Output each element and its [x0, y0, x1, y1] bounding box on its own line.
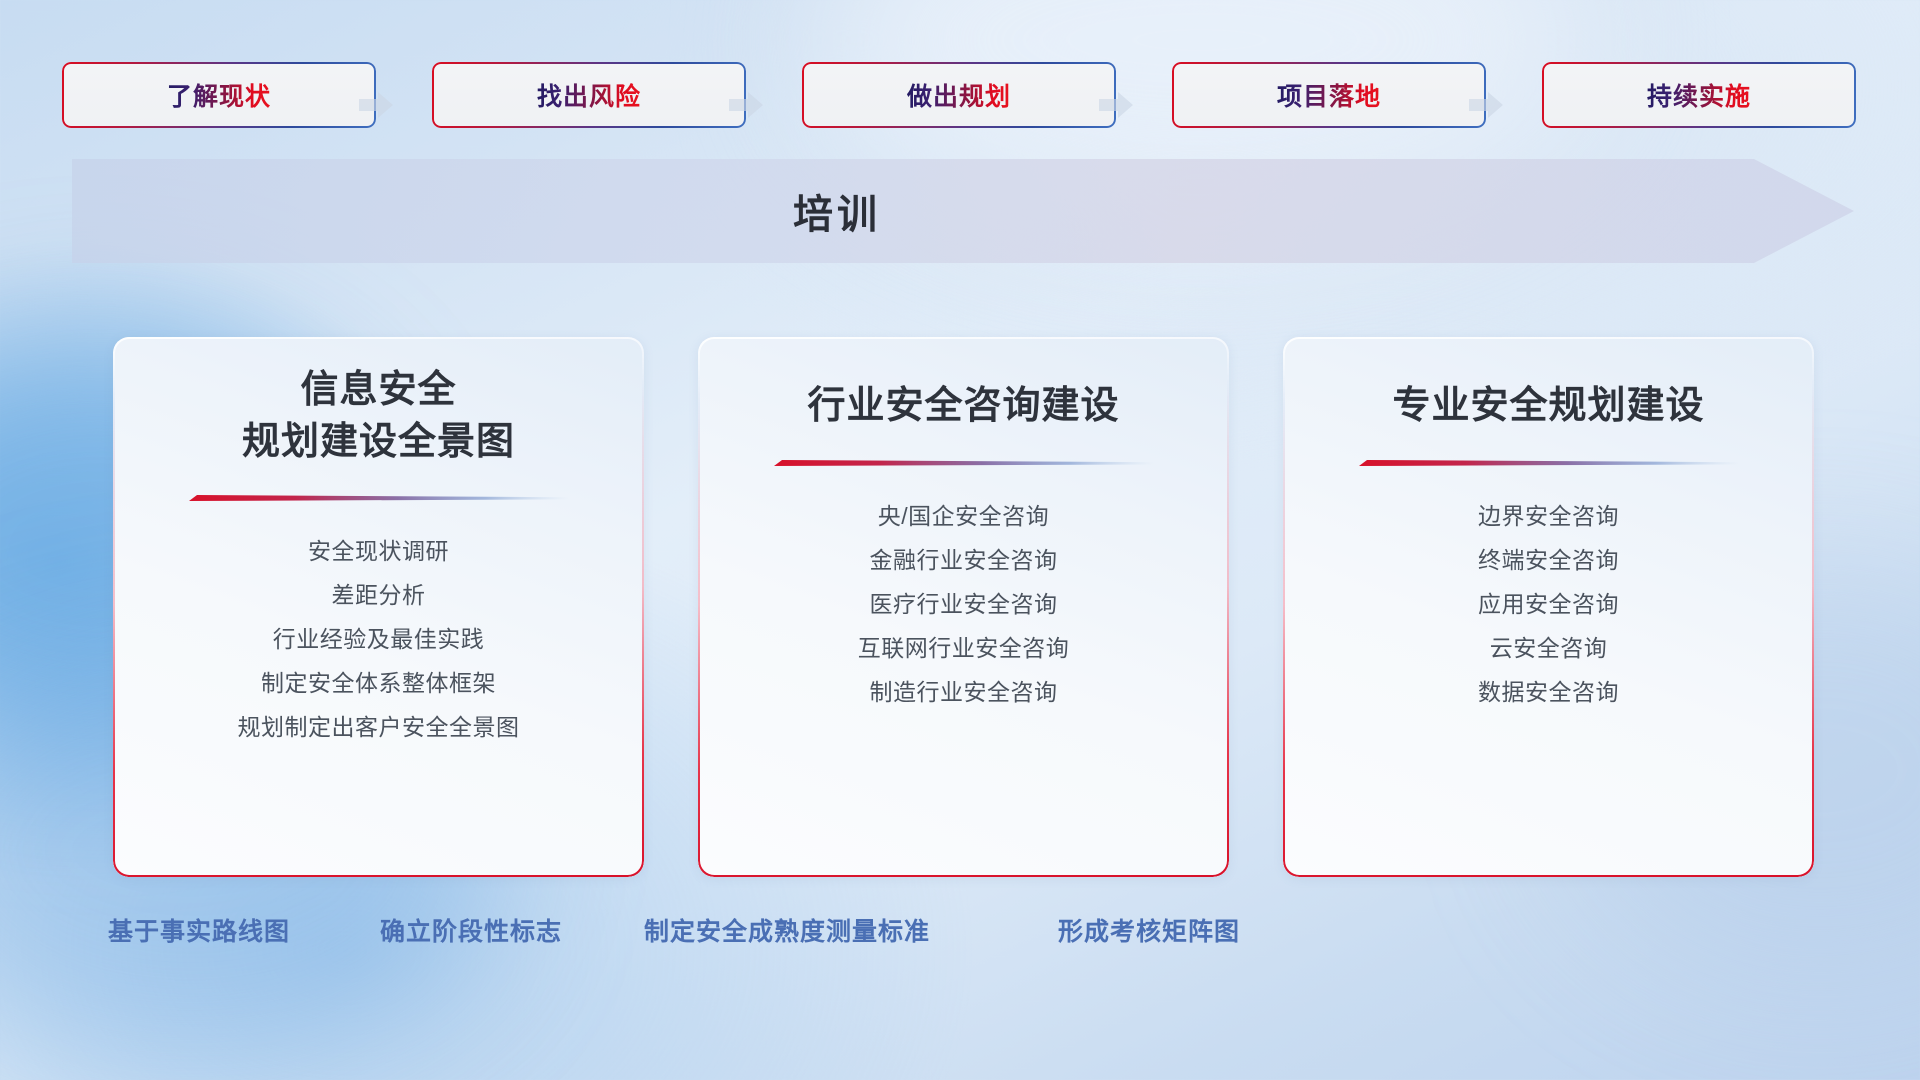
process-step-4[interactable]: 项目落地	[1172, 62, 1486, 128]
card-item-list: 安全现状调研 差距分析 行业经验及最佳实践 制定安全体系整体框架 规划制定出客户…	[238, 530, 520, 750]
process-step-5-label: 持续实施	[1647, 77, 1751, 113]
service-card-professional-planning[interactable]: 专业安全规划建设 边界安全咨询 终端安全咨询 应用安全咨询 云安全	[1283, 337, 1814, 877]
card-title-line-2: 规划建设全景图	[242, 417, 515, 469]
card-title: 专业安全规划建设	[1392, 381, 1704, 433]
training-banner: 培训	[72, 159, 1854, 263]
list-item: 安全现状调研	[238, 530, 520, 574]
process-step-4-label: 项目落地	[1277, 77, 1381, 113]
card-divider	[189, 492, 569, 506]
process-step-1-label: 了解现状	[167, 77, 271, 113]
process-step-2-label: 找出风险	[537, 77, 641, 113]
process-step-5[interactable]: 持续实施	[1542, 62, 1856, 128]
outcome-caption: 基于事实路线图	[108, 912, 290, 948]
outcome-caption: 制定安全成熟度测量标准	[644, 912, 930, 948]
list-item: 规划制定出客户安全全景图	[238, 706, 520, 750]
process-step-3[interactable]: 做出规划	[802, 62, 1116, 128]
process-step-3-label: 做出规划	[907, 77, 1011, 113]
list-item: 差距分析	[238, 574, 520, 618]
card-item-list: 央/国企安全咨询 金融行业安全咨询 医疗行业安全咨询 互联网行业安全咨询 制造行…	[858, 495, 1070, 715]
list-item: 数据安全咨询	[1478, 671, 1619, 715]
outcome-caption-row: 基于事实路线图 确立阶段性标志 制定安全成熟度测量标准 形成考核矩阵图	[0, 912, 1920, 952]
list-item: 制造行业安全咨询	[858, 671, 1070, 715]
list-item: 金融行业安全咨询	[858, 539, 1070, 583]
card-item-list: 边界安全咨询 终端安全咨询 应用安全咨询 云安全咨询 数据安全咨询	[1478, 495, 1619, 715]
training-banner-label: 培训	[72, 159, 1602, 263]
service-card-group: 信息安全 规划建设全景图 安全现状调研 差距分析 行业经	[113, 337, 1813, 877]
process-step-flow: 了解现状 找出风险 做出规划 项目落地 持续实施	[62, 62, 1858, 128]
card-title: 信息安全 规划建设全景图	[242, 365, 515, 468]
list-item: 边界安全咨询	[1478, 495, 1619, 539]
service-card-industry-consulting[interactable]: 行业安全咨询建设 央/国企安全咨询 金融行业安全咨询 医疗行业安全咨询	[698, 337, 1229, 877]
process-step-2[interactable]: 找出风险	[432, 62, 746, 128]
list-item: 制定安全体系整体框架	[238, 662, 520, 706]
process-step-1[interactable]: 了解现状	[62, 62, 376, 128]
list-item: 云安全咨询	[1478, 627, 1619, 671]
card-divider	[1359, 457, 1739, 471]
card-divider	[774, 457, 1154, 471]
list-item: 央/国企安全咨询	[858, 495, 1070, 539]
list-item: 行业经验及最佳实践	[238, 618, 520, 662]
list-item: 医疗行业安全咨询	[858, 583, 1070, 627]
list-item: 互联网行业安全咨询	[858, 627, 1070, 671]
outcome-caption: 形成考核矩阵图	[1058, 912, 1240, 948]
outcome-caption: 确立阶段性标志	[380, 912, 562, 948]
list-item: 应用安全咨询	[1478, 583, 1619, 627]
card-title-line-1: 信息安全	[242, 365, 515, 417]
list-item: 终端安全咨询	[1478, 539, 1619, 583]
card-title: 行业安全咨询建设	[807, 381, 1119, 433]
service-card-information-security[interactable]: 信息安全 规划建设全景图 安全现状调研 差距分析 行业经	[113, 337, 644, 877]
